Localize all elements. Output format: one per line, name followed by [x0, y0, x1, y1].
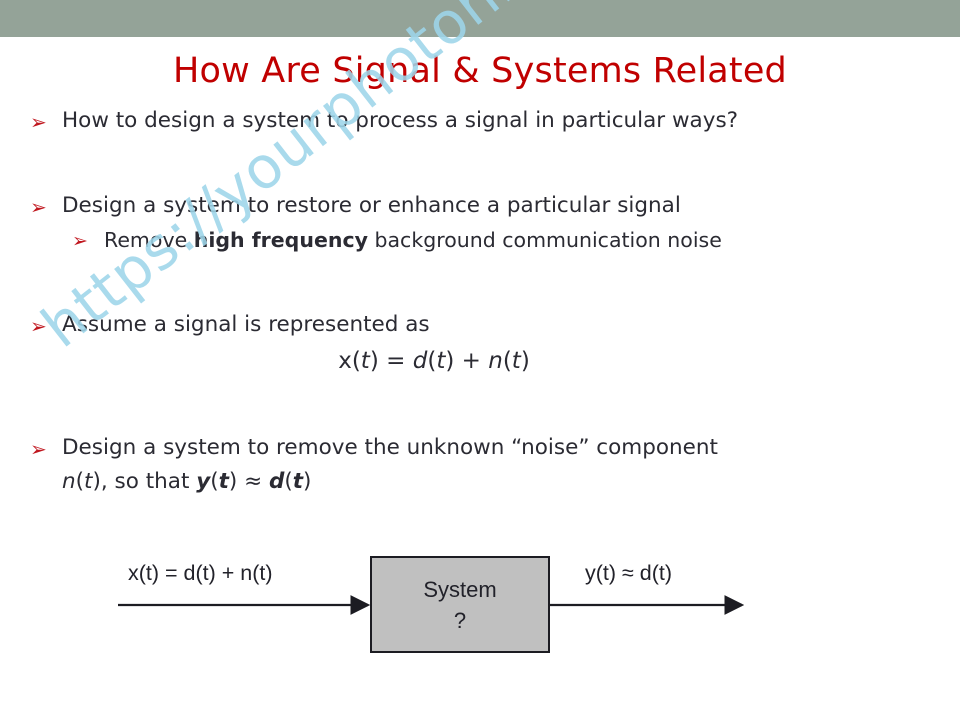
spacer	[0, 257, 960, 291]
arrow-bullet-icon: ➢	[30, 105, 47, 139]
slide-canvas: How Are Signal & Systems Related ➢ How t…	[0, 0, 960, 720]
equation-equals: =	[379, 348, 413, 374]
signal-equation: x(t) = d(t) + n(t)	[0, 342, 960, 380]
equation-t2: t	[436, 348, 445, 374]
system-block: System ?	[370, 556, 550, 653]
equation-paren: )	[521, 348, 530, 374]
bullet-1-label: How to design a system to process a sign…	[62, 108, 738, 133]
equation-t1: t	[361, 348, 370, 374]
bullet-4-continuation: n(t), so that y(t) ≈ d(t)	[0, 465, 960, 499]
bullet-item-4: ➢ Design a system to remove the unknown …	[0, 431, 960, 465]
slide-body: ➢ How to design a system to process a si…	[0, 104, 960, 499]
bullet-2-label: Design a system to restore or enhance a …	[62, 193, 681, 218]
equation-paren: (	[352, 348, 361, 374]
bullet-item-2: ➢ Design a system to restore or enhance …	[0, 189, 960, 223]
bullet-2-sub-emphasis: high frequency	[194, 228, 368, 252]
equation-x: x	[338, 348, 352, 374]
arrow-bullet-icon: ➢	[72, 224, 88, 258]
spacer	[0, 380, 960, 414]
bullet-2-sub-prefix: Remove	[104, 228, 194, 252]
bullet-item-2-sub: ➢ Remove high frequency background commu…	[0, 223, 960, 257]
diagram-input-label: x(t) = d(t) + n(t)	[128, 561, 273, 586]
system-block-diagram: x(t) = d(t) + n(t) System ? y(t) ≈ d(t)	[0, 545, 960, 675]
paren: (	[76, 469, 84, 494]
arrow-bullet-icon: ➢	[30, 432, 47, 466]
system-block-title: System	[423, 574, 496, 605]
cont-text: ), so that	[92, 469, 196, 494]
bullet-item-3: ➢ Assume a signal is represented as	[0, 308, 960, 342]
bullet-4-label: Design a system to remove the unknown “n…	[62, 435, 718, 460]
equation-paren: )	[445, 348, 454, 374]
equation-n: n	[488, 348, 503, 374]
var-t: t	[219, 469, 229, 494]
equation-paren: (	[503, 348, 512, 374]
spacer	[0, 138, 960, 172]
var-n: n	[62, 469, 76, 494]
var-y: y	[196, 469, 210, 494]
spacer	[0, 291, 960, 308]
system-block-question: ?	[454, 605, 466, 636]
spacer	[0, 414, 960, 431]
paren: (	[210, 469, 218, 494]
page-title: How Are Signal & Systems Related	[0, 50, 960, 92]
arrow-bullet-icon: ➢	[30, 190, 47, 224]
var-d: d	[269, 469, 284, 494]
equation-paren: (	[427, 348, 436, 374]
diagram-output-label: y(t) ≈ d(t)	[585, 561, 672, 586]
paren: )	[303, 469, 311, 494]
paren: (	[284, 469, 292, 494]
equation-d: d	[413, 348, 428, 374]
spacer	[0, 172, 960, 189]
cont-text: ) ≈	[229, 469, 269, 494]
equation-plus: +	[454, 348, 488, 374]
bullet-item-1: ➢ How to design a system to process a si…	[0, 104, 960, 138]
bullet-3-label: Assume a signal is represented as	[62, 312, 430, 337]
arrow-bullet-icon: ➢	[30, 309, 47, 343]
bullet-2-sub-suffix: background communication noise	[368, 228, 722, 252]
var-t: t	[293, 469, 303, 494]
equation-t3: t	[512, 348, 521, 374]
equation-paren: )	[370, 348, 379, 374]
top-decorative-bar	[0, 0, 960, 37]
